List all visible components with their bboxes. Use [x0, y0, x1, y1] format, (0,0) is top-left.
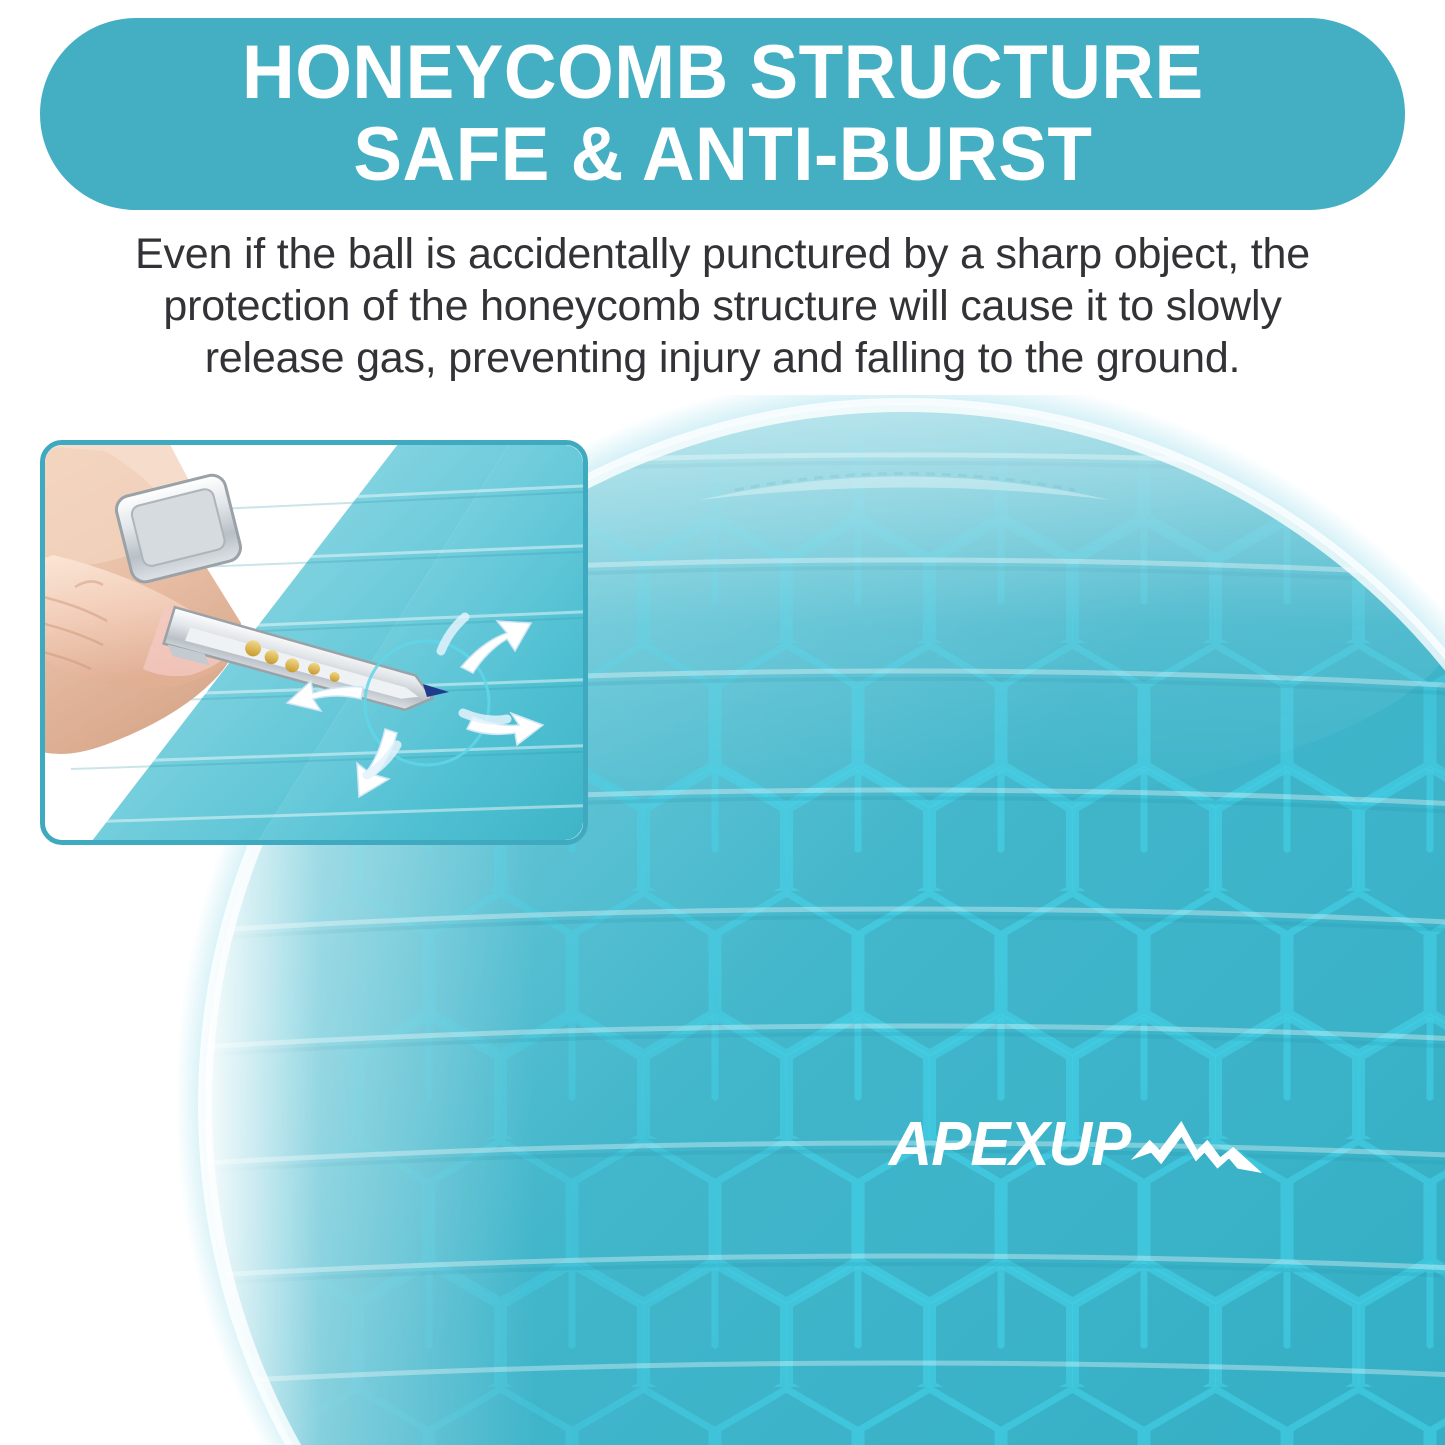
header-banner: HONEYCOMB STRUCTURE SAFE & ANTI-BURST: [40, 18, 1405, 210]
brand-wordmark: APEXUP: [889, 1114, 1130, 1176]
headline-line-1: HONEYCOMB STRUCTURE: [242, 32, 1204, 114]
headline-line-2: SAFE & ANTI-BURST: [353, 114, 1092, 196]
puncture-demo-photo: [40, 440, 588, 845]
description-paragraph: Even if the ball is accidentally punctur…: [95, 228, 1350, 384]
brand-logo: APEXUP: [885, 1103, 1265, 1187]
product-infographic: HONEYCOMB STRUCTURE SAFE & ANTI-BURST Ev…: [0, 0, 1445, 1445]
mountain-icon: [1128, 1107, 1265, 1187]
